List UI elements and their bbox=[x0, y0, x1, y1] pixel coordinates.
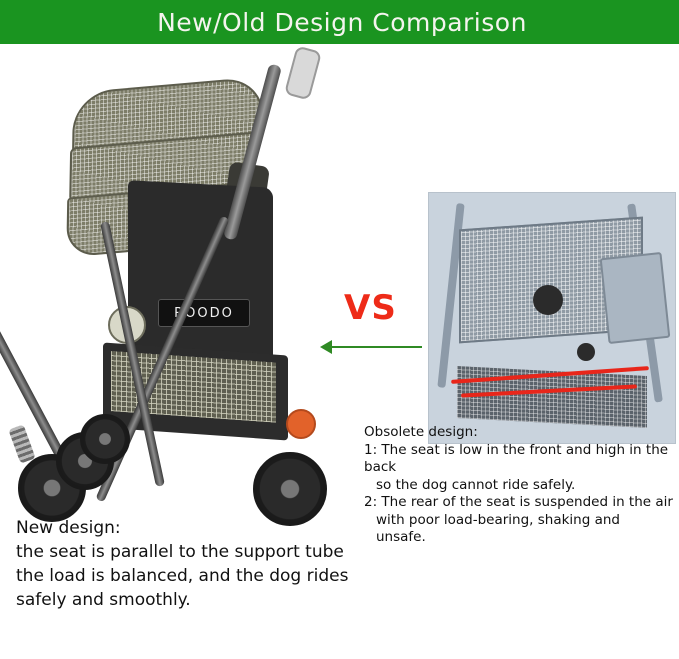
banner-title: New/Old Design Comparison bbox=[157, 8, 527, 37]
caption-obsolete-line-2: so the dog cannot ride safely. bbox=[364, 477, 674, 495]
front-suspension-spring bbox=[8, 424, 35, 463]
inset-lower-hinge bbox=[577, 343, 595, 361]
caption-obsolete-line-1: 1: The seat is low in the front and high… bbox=[364, 442, 674, 477]
rear-wheel bbox=[253, 452, 327, 526]
inset-hinge-joint bbox=[533, 285, 563, 315]
banner-title-wrap: New/Old Design Comparison bbox=[137, 2, 547, 42]
caption-obsolete-line-4: with poor load-bearing, shaking and unsa… bbox=[364, 512, 674, 547]
brand-plate: ROODO bbox=[158, 299, 250, 327]
obsolete-design-inset-image bbox=[428, 192, 676, 444]
image-canvas: New/Old Design Comparison ROODO bbox=[0, 0, 679, 659]
new-design-stroller-image: ROODO bbox=[8, 54, 368, 554]
caption-obsolete-design: Obsolete design: 1: The seat is low in t… bbox=[364, 424, 674, 547]
stroller-handle-grip bbox=[284, 45, 322, 100]
caption-obsolete-heading: Obsolete design: bbox=[364, 424, 674, 442]
caption-obsolete-line-3: 2: The rear of the seat is suspended in … bbox=[364, 494, 674, 512]
caption-new-design-heading: New design: bbox=[16, 516, 366, 540]
brake-pedal bbox=[286, 409, 316, 439]
caption-new-design-line-3: safely and smoothly. bbox=[16, 588, 366, 612]
caption-new-design: New design: the seat is parallel to the … bbox=[16, 516, 366, 613]
caption-new-design-line-1: the seat is parallel to the support tube bbox=[16, 540, 366, 564]
vs-label: VS bbox=[344, 288, 397, 328]
arrow-line bbox=[330, 346, 422, 348]
caption-new-design-line-2: the load is balanced, and the dog rides bbox=[16, 564, 366, 588]
photo-area: ROODO VS bbox=[0, 44, 679, 659]
inset-side-pocket bbox=[600, 252, 671, 344]
banner-edge-right bbox=[542, 0, 679, 44]
banner-edge-left bbox=[0, 0, 137, 44]
front-wheel-inner bbox=[80, 414, 130, 464]
header-banner: New/Old Design Comparison bbox=[0, 0, 679, 44]
comparison-arrow bbox=[320, 340, 424, 354]
